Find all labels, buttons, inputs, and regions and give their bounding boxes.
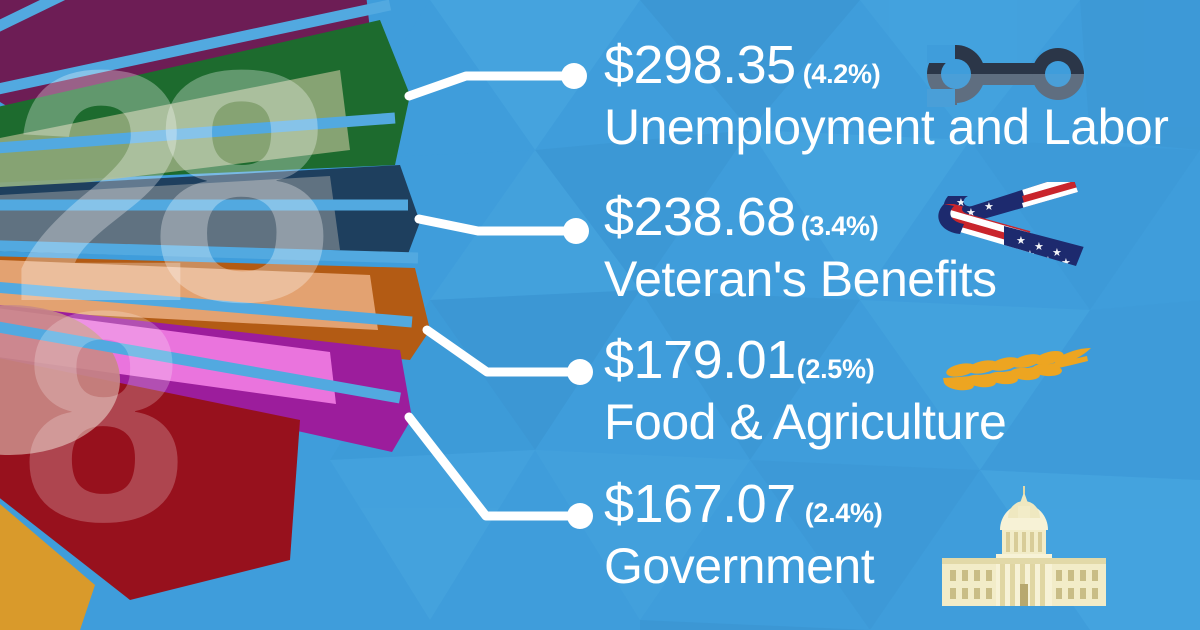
legend-amount: $167.07 <box>604 474 796 534</box>
svg-text:★: ★ <box>1061 257 1071 269</box>
svg-text:★: ★ <box>1010 182 1020 194</box>
svg-text:★: ★ <box>974 191 984 203</box>
svg-text:★: ★ <box>1034 241 1044 253</box>
legend-amount-row: $167.07(2.4%) <box>604 477 1200 539</box>
svg-text:★: ★ <box>1043 255 1053 267</box>
flag-ribbon-icon: ★★ ★★ ★★ <box>926 182 1088 274</box>
svg-text:★: ★ <box>1025 249 1035 261</box>
svg-text:★: ★ <box>992 186 1002 198</box>
capitol-building-icon <box>940 484 1108 608</box>
svg-text:★: ★ <box>984 201 994 213</box>
legend-amount-row: $238.68(3.4%) <box>604 190 1200 252</box>
legend-category: Food & Agriculture <box>604 397 1200 447</box>
legend-percent: (2.5%) <box>797 354 875 384</box>
legend-category: Unemployment and Labor <box>604 102 1200 152</box>
legend-percent: (4.2%) <box>803 59 881 89</box>
legend-entry-government[interactable]: $167.07(2.4%) Government <box>604 477 1200 591</box>
legend-amount-row: $179.01(2.5%) <box>604 333 1200 395</box>
svg-text:★: ★ <box>1016 235 1026 247</box>
legend-entry-veterans-benefits[interactable]: $238.68(3.4%) Veteran's Benefits <box>604 190 1200 304</box>
legend-entry-unemployment-and-labor[interactable]: $298.35(4.2%) Unemployment and Labor <box>604 38 1200 152</box>
legend-amount: $238.68 <box>604 187 796 247</box>
legend-amount-row: $298.35(4.2%) <box>604 38 1200 100</box>
legend-category: Veteran's Benefits <box>604 254 1200 304</box>
legend-percent: (3.4%) <box>801 211 879 241</box>
legend-amount: $179.01 <box>604 330 796 390</box>
legend-amount: $298.35 <box>604 35 796 95</box>
wheat-icon <box>925 346 1093 402</box>
legend-percent: (2.4%) <box>805 498 883 528</box>
wrench-icon <box>921 43 1091 111</box>
legend-category: Government <box>604 541 1200 591</box>
infographic-canvas: 2 8 8 $298.35(4.2%) Unemployment and Lab… <box>0 0 1200 630</box>
legend-entry-food-and-agriculture[interactable]: $179.01(2.5%) Food & Agriculture <box>604 333 1200 447</box>
